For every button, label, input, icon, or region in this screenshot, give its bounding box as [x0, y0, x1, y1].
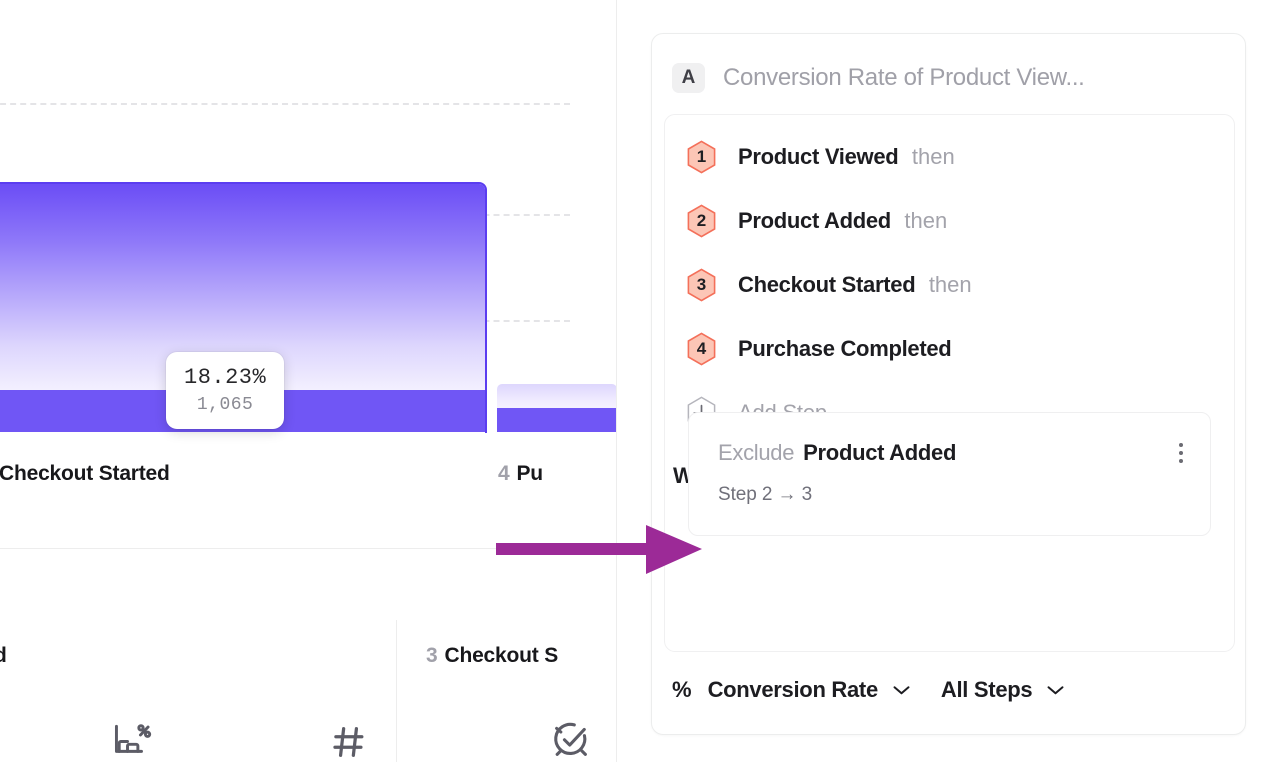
- footer-label-product-added: d: [0, 644, 7, 668]
- funnel-bar-base: [497, 408, 617, 432]
- metric-scope-value: All Steps: [941, 677, 1032, 703]
- step-number: 3: [697, 275, 706, 295]
- metric-scope-select[interactable]: All Steps: [941, 677, 1065, 703]
- chart-gridline: [0, 103, 570, 105]
- funnel-step-row[interactable]: 2 Product Added then: [665, 189, 1234, 253]
- step-number-hexagon-icon: 4: [686, 332, 717, 366]
- percent-icon: %: [672, 677, 692, 703]
- step-label-group: Checkout Started then: [738, 272, 972, 298]
- query-builder-pane: A Conversion Rate of Product View... 1: [618, 0, 1264, 762]
- circle-check-icon[interactable]: [551, 720, 591, 762]
- funnel-step-row[interactable]: 4 Purchase Completed: [665, 317, 1234, 381]
- step-event-label[interactable]: Purchase Completed: [738, 336, 951, 361]
- step-event-label[interactable]: Product Viewed: [738, 144, 898, 169]
- x-axis-label-purchase-completed: 4Pu: [498, 462, 543, 486]
- step-connector: then: [929, 272, 972, 297]
- footer-label-index: 3: [426, 644, 437, 667]
- hash-icon[interactable]: [330, 724, 367, 762]
- step-event-label[interactable]: Checkout Started: [738, 272, 915, 297]
- x-axis-label-checkout-started: Checkout Started: [0, 462, 170, 486]
- funnel-chart-pane: 18.23% 1,065 Checkout Started 4Pu d 3Che…: [0, 0, 617, 762]
- step-number: 4: [697, 339, 706, 359]
- tooltip-percent: 18.23%: [184, 365, 266, 390]
- step-number-hexagon-icon: 1: [686, 140, 717, 174]
- tooltip-count: 1,065: [184, 395, 266, 415]
- footer-label-text: d: [0, 644, 7, 667]
- footer-column-divider: [396, 620, 397, 762]
- step-label-group: Product Added then: [738, 208, 947, 234]
- exclude-event-name[interactable]: Product Added: [803, 440, 956, 466]
- metric-footer-row: % Conversion Rate All Steps: [672, 677, 1065, 703]
- step-label-group: Product Viewed then: [738, 144, 955, 170]
- funnel-bar-purchase-completed[interactable]: [497, 384, 617, 432]
- query-letter-badge: A: [672, 63, 705, 93]
- exclude-rule-header: Exclude Product Added: [689, 413, 1210, 468]
- step-connector: then: [904, 208, 947, 233]
- exclude-rule-card[interactable]: Exclude Product Added Step 2 → 3: [688, 412, 1211, 536]
- step-connector: then: [912, 144, 955, 169]
- chevron-down-icon: [1046, 684, 1065, 696]
- pane-divider: [616, 0, 617, 762]
- step-label-group: Purchase Completed: [738, 336, 960, 362]
- funnel-step-row[interactable]: 1 Product Viewed then: [665, 125, 1234, 189]
- metric-type-value: Conversion Rate: [708, 677, 878, 703]
- metric-type-select[interactable]: Conversion Rate: [708, 677, 911, 703]
- kebab-menu-icon[interactable]: [1174, 438, 1188, 468]
- footer-label-checkout-started: 3Checkout S: [426, 644, 558, 668]
- funnel-percent-icon[interactable]: [110, 722, 154, 762]
- chart-tooltip: 18.23% 1,065: [166, 352, 284, 429]
- x-axis-label-text: Checkout Started: [0, 462, 170, 485]
- query-title[interactable]: Conversion Rate of Product View...: [723, 64, 1085, 92]
- chevron-down-icon: [892, 684, 911, 696]
- exclude-keyword: Exclude: [718, 440, 794, 466]
- funnel-step-row[interactable]: 3 Checkout Started then: [665, 253, 1234, 317]
- chart-section-divider: [0, 548, 617, 549]
- funnel-query-card: A Conversion Rate of Product View... 1: [651, 33, 1246, 735]
- footer-label-text: Checkout S: [444, 644, 558, 667]
- step-event-label[interactable]: Product Added: [738, 208, 891, 233]
- exclude-step-range: Step 2 → 3: [689, 468, 1210, 506]
- step-number: 2: [697, 211, 706, 231]
- step-number: 1: [697, 147, 706, 167]
- step-number-hexagon-icon: 3: [686, 268, 717, 302]
- query-title-row[interactable]: A Conversion Rate of Product View...: [652, 34, 1245, 93]
- x-axis-label-index: 4: [498, 462, 509, 485]
- steps-card: 1 Product Viewed then 2: [664, 114, 1235, 652]
- step-number-hexagon-icon: 2: [686, 204, 717, 238]
- x-axis-label-text: Pu: [516, 462, 542, 485]
